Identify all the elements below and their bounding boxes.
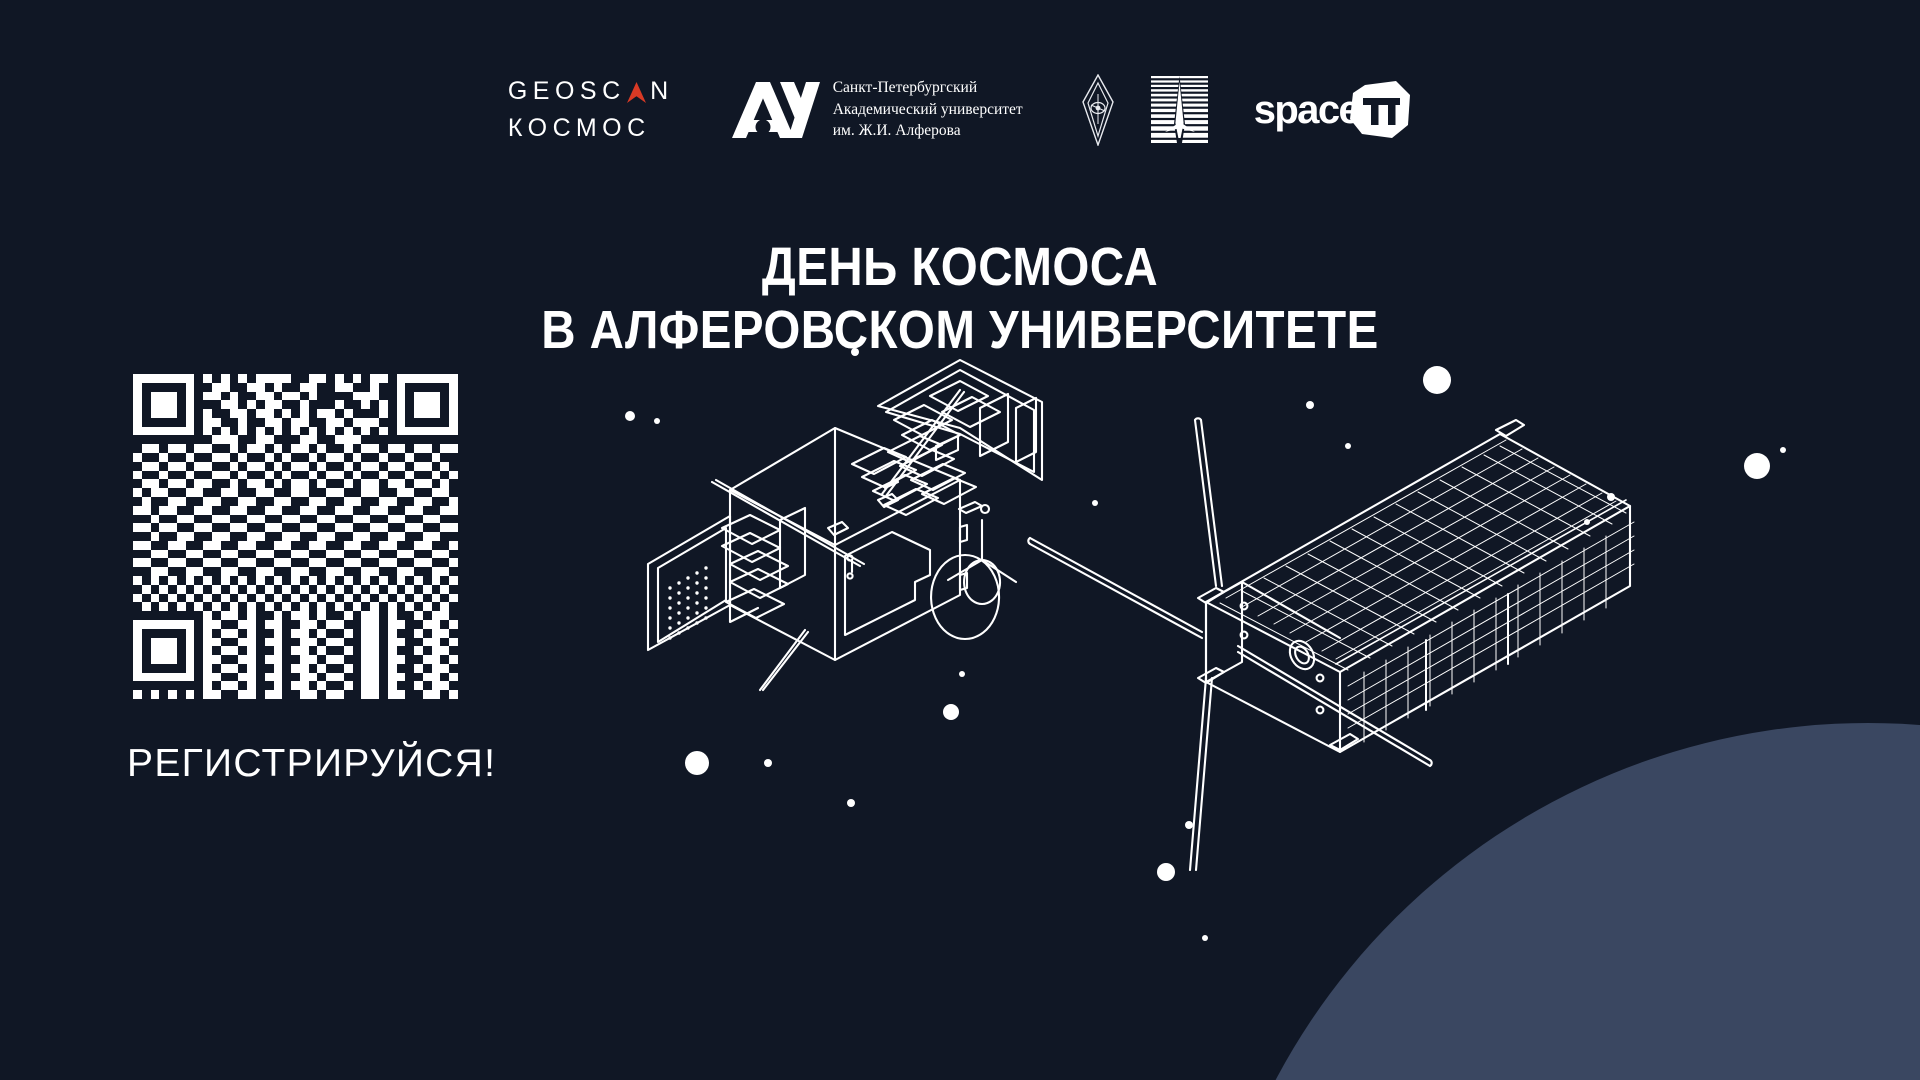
- registration-block[interactable]: РЕГИСТРИРУЙСЯ!: [133, 374, 496, 786]
- spacepi-logo[interactable]: space: [1254, 81, 1412, 139]
- star: [764, 759, 772, 767]
- star: [1202, 935, 1208, 941]
- diamond-emblem-icon: [1081, 74, 1115, 146]
- page-title: ДЕНЬ КОСМОСА В АЛФЕРОВСКОМ УНИВЕРСИТЕТЕ: [0, 236, 1920, 362]
- spacepi-badge-icon: [1350, 81, 1412, 139]
- star: [1744, 453, 1770, 479]
- partner-logo-bar: GEOSC N КОСМОС Санкт-Петербургский Ак: [0, 62, 1920, 157]
- geoscan-word-after-a: N: [650, 79, 674, 104]
- geoscan-arrow-a-icon: [627, 82, 646, 103]
- star: [1423, 366, 1451, 394]
- university-line-1: Санкт-Петербургский: [833, 77, 1023, 98]
- diamond-emblem-logo[interactable]: [1081, 74, 1115, 146]
- register-cta-label: РЕГИСТРИРУЙСЯ!: [127, 742, 496, 786]
- au-monogram-icon: [730, 80, 822, 140]
- headline-line-2: В АЛФЕРОВСКОМ УНИВЕРСИТЕТЕ: [115, 299, 1805, 362]
- cubesat-3u-illustration: [1030, 400, 1650, 870]
- geoscan-kosmos-label: КОСМОС: [508, 116, 651, 141]
- star: [1780, 447, 1786, 453]
- geoscan-logo[interactable]: GEOSC N КОСМОС: [508, 79, 674, 141]
- star: [943, 704, 959, 720]
- striped-rocket-icon: [1151, 76, 1208, 143]
- striped-rocket-logo[interactable]: [1151, 76, 1208, 143]
- qr-code[interactable]: [133, 374, 458, 699]
- geoscan-word-before-a: GEOSC: [508, 79, 626, 104]
- star: [685, 751, 709, 775]
- university-name-text: Санкт-Петербургский Академический универ…: [833, 77, 1023, 141]
- spacepi-wordmark: space: [1254, 90, 1359, 130]
- star: [847, 799, 855, 807]
- geoscan-wordmark: GEOSC N: [508, 79, 674, 104]
- university-line-2: Академический университет: [833, 99, 1023, 120]
- alferov-university-logo[interactable]: Санкт-Петербургский Академический универ…: [730, 77, 1023, 141]
- university-line-3: им. Ж.И. Алферова: [833, 120, 1023, 141]
- headline-line-1: ДЕНЬ КОСМОСА: [115, 236, 1805, 299]
